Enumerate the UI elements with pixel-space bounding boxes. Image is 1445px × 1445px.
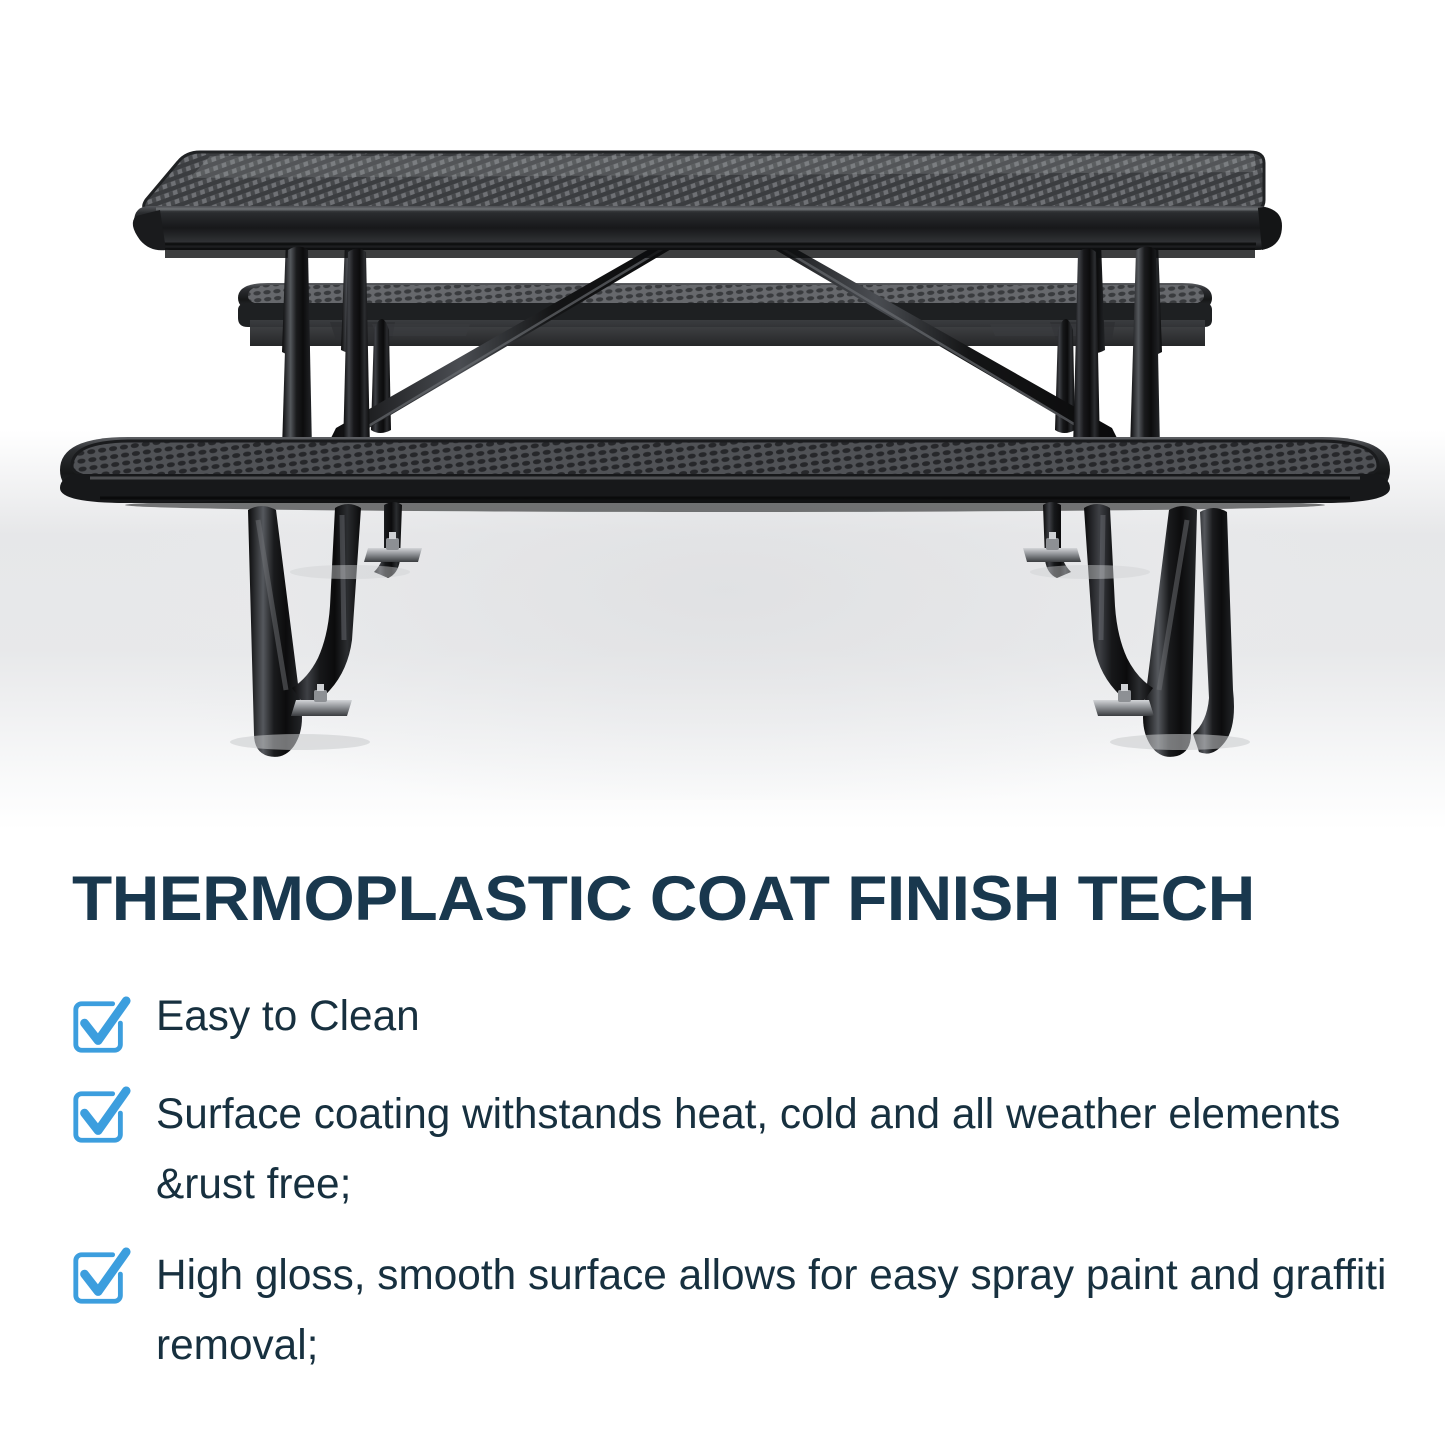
list-item-label: High gloss, smooth surface allows for ea… (156, 1241, 1391, 1380)
list-item-label: Easy to Clean (156, 990, 1391, 1044)
checked-checkbox-icon (70, 996, 132, 1058)
product-hero-image (0, 0, 1445, 845)
checked-checkbox-icon (70, 1247, 132, 1309)
front-bench-seat (60, 437, 1390, 512)
page-title: THERMOPLASTIC COAT FINISH TECH (72, 868, 1445, 931)
list-item-label: Surface coating withstands heat, cold an… (156, 1080, 1391, 1219)
lower-leg-assembly (248, 502, 1234, 757)
picnic-table-illustration (0, 0, 1445, 845)
list-item: Easy to Clean (70, 990, 1410, 1058)
marketing-image-page: THERMOPLASTIC COAT FINISH TECH Easy to C… (0, 0, 1445, 1445)
feature-list: Easy to Clean Surface coating withstands… (70, 990, 1410, 1403)
list-item: Surface coating withstands heat, cold an… (70, 1080, 1410, 1219)
list-item: High gloss, smooth surface allows for ea… (70, 1241, 1410, 1380)
front-upper-leg-tubes (282, 247, 1160, 455)
tabletop (133, 152, 1282, 258)
checked-checkbox-icon (70, 1086, 132, 1148)
